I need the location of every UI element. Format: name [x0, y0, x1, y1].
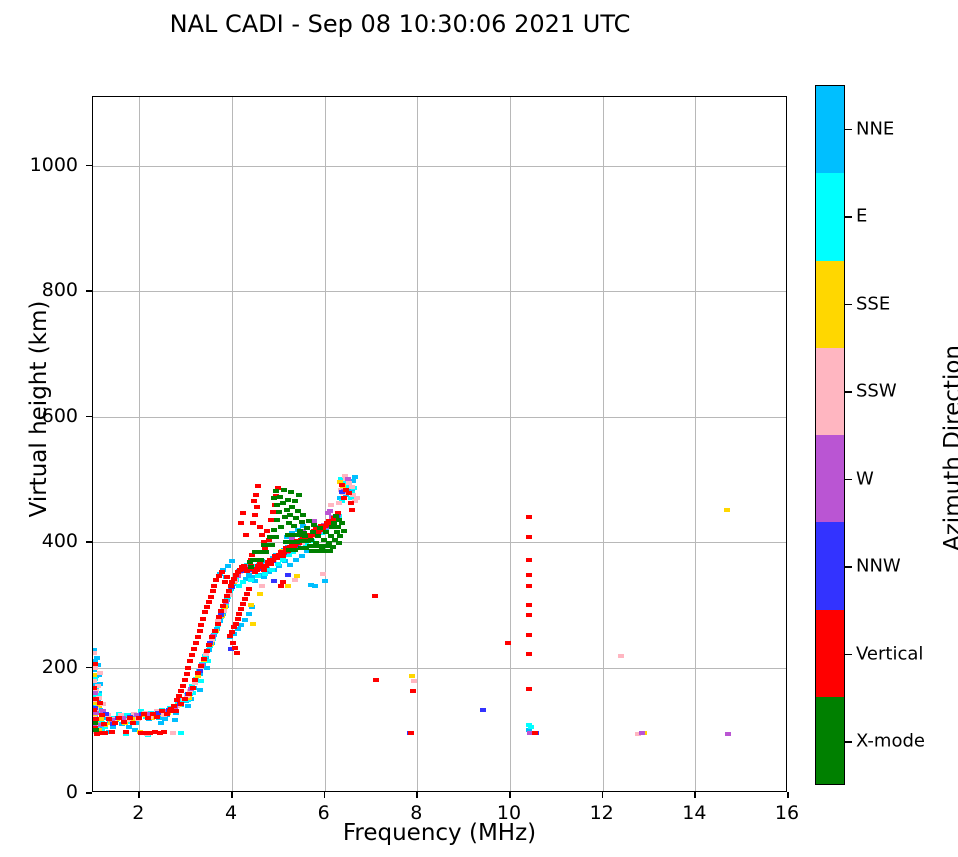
- scatter-point: [229, 559, 235, 563]
- scatter-point: [231, 577, 237, 581]
- scatter-point: [231, 625, 237, 629]
- scatter-point: [275, 562, 281, 566]
- scatter-point: [329, 525, 335, 529]
- scatter-point: [409, 674, 415, 678]
- scatter-point: [349, 485, 355, 489]
- scatter-point: [328, 503, 334, 507]
- scatter-point: [186, 692, 192, 696]
- scatter-point: [208, 595, 214, 599]
- scatter-point: [130, 721, 136, 725]
- scatter-point: [255, 484, 261, 488]
- scatter-point: [526, 687, 532, 691]
- scatter-point: [252, 550, 258, 554]
- scatter-point: [112, 721, 118, 725]
- scatter-point: [299, 520, 305, 524]
- scatter-point: [201, 657, 207, 661]
- colorbar-tick-mark: [845, 391, 852, 393]
- scatter-point: [287, 563, 293, 567]
- scatter-point: [154, 715, 160, 719]
- scatter-point: [235, 617, 241, 621]
- scatter-point: [228, 584, 234, 588]
- scatter-point: [345, 477, 351, 481]
- scatter-point: [174, 698, 180, 702]
- colorbar-label-x-mode: X-mode: [856, 731, 925, 752]
- scatter-point: [224, 594, 230, 598]
- scatter-point: [178, 702, 184, 706]
- scatter-point: [526, 633, 532, 637]
- scatter-point: [232, 646, 238, 650]
- scatter-point: [198, 664, 204, 668]
- scatter-point: [202, 610, 208, 614]
- scatter-point: [273, 489, 279, 493]
- scatter-point: [339, 483, 345, 487]
- colorbar-tick-mark: [845, 216, 852, 218]
- x-axis-label: Frequency (MHz): [92, 820, 787, 846]
- scatter-point: [354, 496, 360, 500]
- colorbar-segment-sse: [816, 261, 844, 348]
- y-tick-label: 200: [2, 656, 78, 678]
- scatter-point: [267, 535, 273, 539]
- scatter-point: [271, 579, 277, 583]
- scatter-point: [238, 607, 244, 611]
- scatter-point: [240, 580, 246, 584]
- scatter-point: [158, 721, 164, 725]
- scatter-point: [327, 509, 333, 513]
- x-tick-mark: [787, 792, 789, 798]
- scatter-point: [410, 689, 416, 693]
- scatter-point: [182, 678, 188, 682]
- colorbar-tick-mark: [845, 304, 852, 306]
- scatter-point: [292, 578, 298, 582]
- scatter-point: [639, 731, 645, 735]
- ionogram-figure: NAL CADI - Sep 08 10:30:06 2021 UTC 0200…: [0, 0, 958, 857]
- scatter-point: [327, 549, 333, 553]
- scatter-point: [280, 558, 286, 562]
- y-tick-mark: [86, 290, 92, 292]
- colorbar-segment-nne: [816, 86, 844, 173]
- colorbar-tick-mark: [845, 129, 852, 131]
- scatter-point: [145, 716, 151, 720]
- scatter-point: [336, 501, 342, 505]
- colorbar-tick-mark: [845, 566, 852, 568]
- scatter-point: [173, 709, 179, 713]
- scatter-layer: [93, 97, 786, 791]
- scatter-point: [222, 599, 228, 603]
- scatter-point: [236, 612, 242, 616]
- scatter-point: [262, 572, 268, 576]
- y-tick-mark: [86, 416, 92, 418]
- scatter-point: [190, 686, 196, 690]
- scatter-point: [213, 578, 219, 582]
- colorbar-label-nnw: NNW: [856, 556, 901, 577]
- scatter-point: [195, 671, 201, 675]
- scatter-point: [197, 688, 203, 692]
- colorbar-title: Azimuth Direction: [940, 298, 958, 598]
- y-tick-label: 0: [2, 781, 78, 803]
- scatter-point: [109, 730, 115, 734]
- scatter-point: [505, 641, 511, 645]
- scatter-point: [526, 723, 532, 727]
- scatter-point: [184, 672, 190, 676]
- scatter-point: [264, 529, 270, 533]
- scatter-point: [127, 716, 133, 720]
- scatter-point: [216, 615, 222, 619]
- scatter-point: [271, 496, 277, 500]
- scatter-point: [182, 697, 188, 701]
- scatter-point: [92, 679, 97, 683]
- scatter-point: [352, 475, 358, 479]
- scatter-point: [299, 554, 305, 558]
- y-tick-label: 1000: [2, 154, 78, 176]
- scatter-point: [411, 679, 417, 683]
- scatter-point: [322, 579, 328, 583]
- scatter-point: [337, 534, 343, 538]
- scatter-point: [532, 731, 538, 735]
- scatter-point: [191, 647, 197, 651]
- scatter-point: [170, 731, 176, 735]
- scatter-point: [261, 568, 267, 572]
- scatter-point: [242, 618, 248, 622]
- scatter-point: [212, 629, 218, 633]
- scatter-point: [197, 629, 203, 633]
- scatter-point: [204, 649, 210, 653]
- scatter-point: [526, 613, 532, 617]
- scatter-point: [526, 584, 532, 588]
- scatter-point: [92, 691, 98, 695]
- scatter-point: [276, 510, 282, 514]
- scatter-point: [325, 544, 331, 548]
- scatter-point: [336, 541, 342, 545]
- scatter-point: [250, 622, 256, 626]
- scatter-point: [312, 584, 318, 588]
- scatter-point: [206, 643, 212, 647]
- x-tick-mark: [231, 792, 233, 798]
- scatter-point: [725, 732, 731, 736]
- scatter-point: [180, 684, 186, 688]
- scatter-point: [248, 578, 254, 582]
- colorbar-tick-mark: [845, 654, 852, 656]
- colorbar-segment-x-mode: [816, 697, 844, 784]
- scatter-point: [92, 651, 97, 655]
- scatter-point: [526, 515, 532, 519]
- scatter-point: [189, 653, 195, 657]
- scatter-point: [167, 709, 173, 713]
- scatter-point: [274, 503, 280, 507]
- scatter-point: [246, 587, 252, 591]
- colorbar-label-vertical: Vertical: [856, 643, 923, 664]
- scatter-point: [252, 513, 258, 517]
- scatter-point: [526, 603, 532, 607]
- scatter-point: [285, 498, 291, 502]
- colorbar-segment-nnw: [816, 522, 844, 609]
- scatter-point: [296, 493, 302, 497]
- scatter-point: [336, 518, 342, 522]
- scatter-point: [341, 496, 347, 500]
- scatter-point: [341, 529, 347, 533]
- colorbar-tick-mark: [845, 741, 852, 743]
- scatter-point: [408, 731, 414, 735]
- scatter-point: [215, 622, 221, 626]
- scatter-point: [255, 574, 261, 578]
- plot-area: [92, 96, 787, 792]
- x-tick-mark: [694, 792, 696, 798]
- colorbar-label-ssw: SSW: [856, 381, 897, 402]
- x-tick-mark: [138, 792, 140, 798]
- y-tick-mark: [86, 541, 92, 543]
- scatter-point: [94, 656, 100, 660]
- scatter-point: [268, 518, 274, 522]
- scatter-point: [724, 508, 730, 512]
- scatter-point: [320, 572, 326, 576]
- colorbar-segment-ssw: [816, 348, 844, 435]
- scatter-point: [480, 708, 486, 712]
- scatter-point: [251, 499, 257, 503]
- scatter-point: [206, 600, 212, 604]
- scatter-point: [618, 654, 624, 658]
- scatter-point: [238, 521, 244, 525]
- scatter-point: [270, 510, 276, 514]
- scatter-point: [526, 558, 532, 562]
- scatter-point: [220, 604, 226, 608]
- scatter-point: [349, 508, 355, 512]
- scatter-point: [288, 490, 294, 494]
- scatter-point: [248, 603, 254, 607]
- scatter-point: [274, 518, 280, 522]
- scatter-point: [254, 505, 260, 509]
- scatter-point: [280, 554, 286, 558]
- scatter-point: [257, 592, 263, 596]
- scatter-point: [218, 609, 224, 613]
- scatter-point: [233, 622, 239, 626]
- scatter-point: [161, 730, 167, 734]
- colorbar-label-e: E: [856, 206, 867, 227]
- scatter-point: [250, 521, 256, 525]
- scatter-point: [210, 589, 216, 593]
- scatter-point: [222, 580, 228, 584]
- scatter-point: [259, 584, 265, 588]
- scatter-point: [92, 666, 98, 670]
- scatter-point: [373, 678, 379, 682]
- scatter-point: [209, 635, 215, 639]
- scatter-point: [346, 491, 352, 495]
- scatter-point: [193, 641, 199, 645]
- colorbar-segment-e: [816, 173, 844, 260]
- scatter-point: [280, 501, 286, 505]
- colorbar: [815, 85, 845, 785]
- scatter-point: [246, 612, 252, 616]
- scatter-point: [242, 597, 248, 601]
- scatter-point: [102, 731, 108, 735]
- scatter-point: [244, 592, 250, 596]
- scatter-point: [305, 539, 311, 543]
- scatter-point: [93, 728, 99, 732]
- scatter-point: [240, 602, 246, 606]
- scatter-point: [281, 488, 287, 492]
- scatter-point: [198, 623, 204, 627]
- scatter-point: [261, 575, 267, 579]
- scatter-point: [292, 499, 298, 503]
- scatter-point: [92, 662, 98, 666]
- scatter-point: [271, 528, 277, 532]
- y-tick-mark: [86, 792, 92, 794]
- scatter-point: [291, 524, 297, 528]
- scatter-point: [259, 533, 265, 537]
- scatter-point: [200, 617, 206, 621]
- scatter-point: [257, 525, 263, 529]
- colorbar-label-sse: SSE: [856, 293, 890, 314]
- scatter-point: [273, 535, 279, 539]
- scatter-point: [219, 570, 225, 574]
- scatter-point: [247, 560, 253, 564]
- scatter-point: [178, 689, 184, 693]
- scatter-point: [229, 630, 235, 634]
- scatter-point: [285, 584, 291, 588]
- scatter-point: [229, 580, 235, 584]
- scatter-point: [92, 721, 98, 725]
- scatter-point: [269, 568, 275, 572]
- scatter-point: [162, 717, 168, 721]
- scatter-point: [372, 594, 378, 598]
- x-tick-mark: [602, 792, 604, 798]
- scatter-point: [192, 678, 198, 682]
- scatter-point: [92, 686, 97, 690]
- scatter-point: [526, 573, 532, 577]
- scatter-point: [121, 720, 127, 724]
- scatter-point: [526, 652, 532, 656]
- scatter-point: [238, 623, 244, 627]
- y-axis-label: Virtual height (km): [26, 259, 52, 559]
- scatter-point: [278, 525, 284, 529]
- colorbar-segment-w: [816, 435, 844, 522]
- scatter-point: [178, 731, 184, 735]
- colorbar-label-nne: NNE: [856, 118, 894, 139]
- scatter-point: [225, 564, 231, 568]
- scatter-point: [300, 513, 306, 517]
- scatter-point: [185, 666, 191, 670]
- scatter-point: [97, 701, 103, 705]
- scatter-point: [253, 493, 259, 497]
- colorbar-label-w: W: [856, 468, 874, 489]
- scatter-point: [278, 584, 284, 588]
- scatter-point: [526, 535, 532, 539]
- scatter-point: [335, 525, 341, 529]
- scatter-point: [185, 704, 191, 708]
- scatter-point: [230, 641, 236, 645]
- scatter-point: [211, 584, 217, 588]
- scatter-point: [101, 722, 107, 726]
- scatter-point: [348, 501, 354, 505]
- x-tick-mark: [509, 792, 511, 798]
- scatter-point: [123, 730, 129, 734]
- scatter-point: [285, 573, 291, 577]
- scatter-point: [301, 531, 307, 535]
- scatter-point: [187, 659, 193, 663]
- scatter-point: [172, 718, 178, 722]
- scatter-point: [198, 679, 204, 683]
- page-title: NAL CADI - Sep 08 10:30:06 2021 UTC: [0, 10, 800, 38]
- x-tick-mark: [416, 792, 418, 798]
- scatter-point: [226, 589, 232, 593]
- scatter-point: [261, 543, 267, 547]
- scatter-point: [99, 713, 105, 717]
- scatter-point: [280, 580, 286, 584]
- scatter-point: [277, 495, 283, 499]
- scatter-point: [224, 575, 230, 579]
- scatter-point: [268, 562, 274, 566]
- scatter-point: [195, 635, 201, 639]
- scatter-point: [240, 511, 246, 515]
- scatter-point: [293, 558, 299, 562]
- y-tick-mark: [86, 165, 92, 167]
- x-tick-mark: [324, 792, 326, 798]
- colorbar-tick-mark: [845, 479, 852, 481]
- scatter-point: [97, 671, 103, 675]
- scatter-point: [236, 584, 242, 588]
- scatter-point: [171, 704, 177, 708]
- scatter-point: [243, 533, 249, 537]
- scatter-point: [234, 651, 240, 655]
- scatter-point: [227, 634, 233, 638]
- scatter-point: [216, 574, 222, 578]
- scatter-point: [136, 716, 142, 720]
- colorbar-segment-vertical: [816, 610, 844, 697]
- scatter-point: [92, 708, 97, 712]
- scatter-point: [248, 565, 254, 569]
- scatter-point: [204, 605, 210, 609]
- y-tick-mark: [86, 667, 92, 669]
